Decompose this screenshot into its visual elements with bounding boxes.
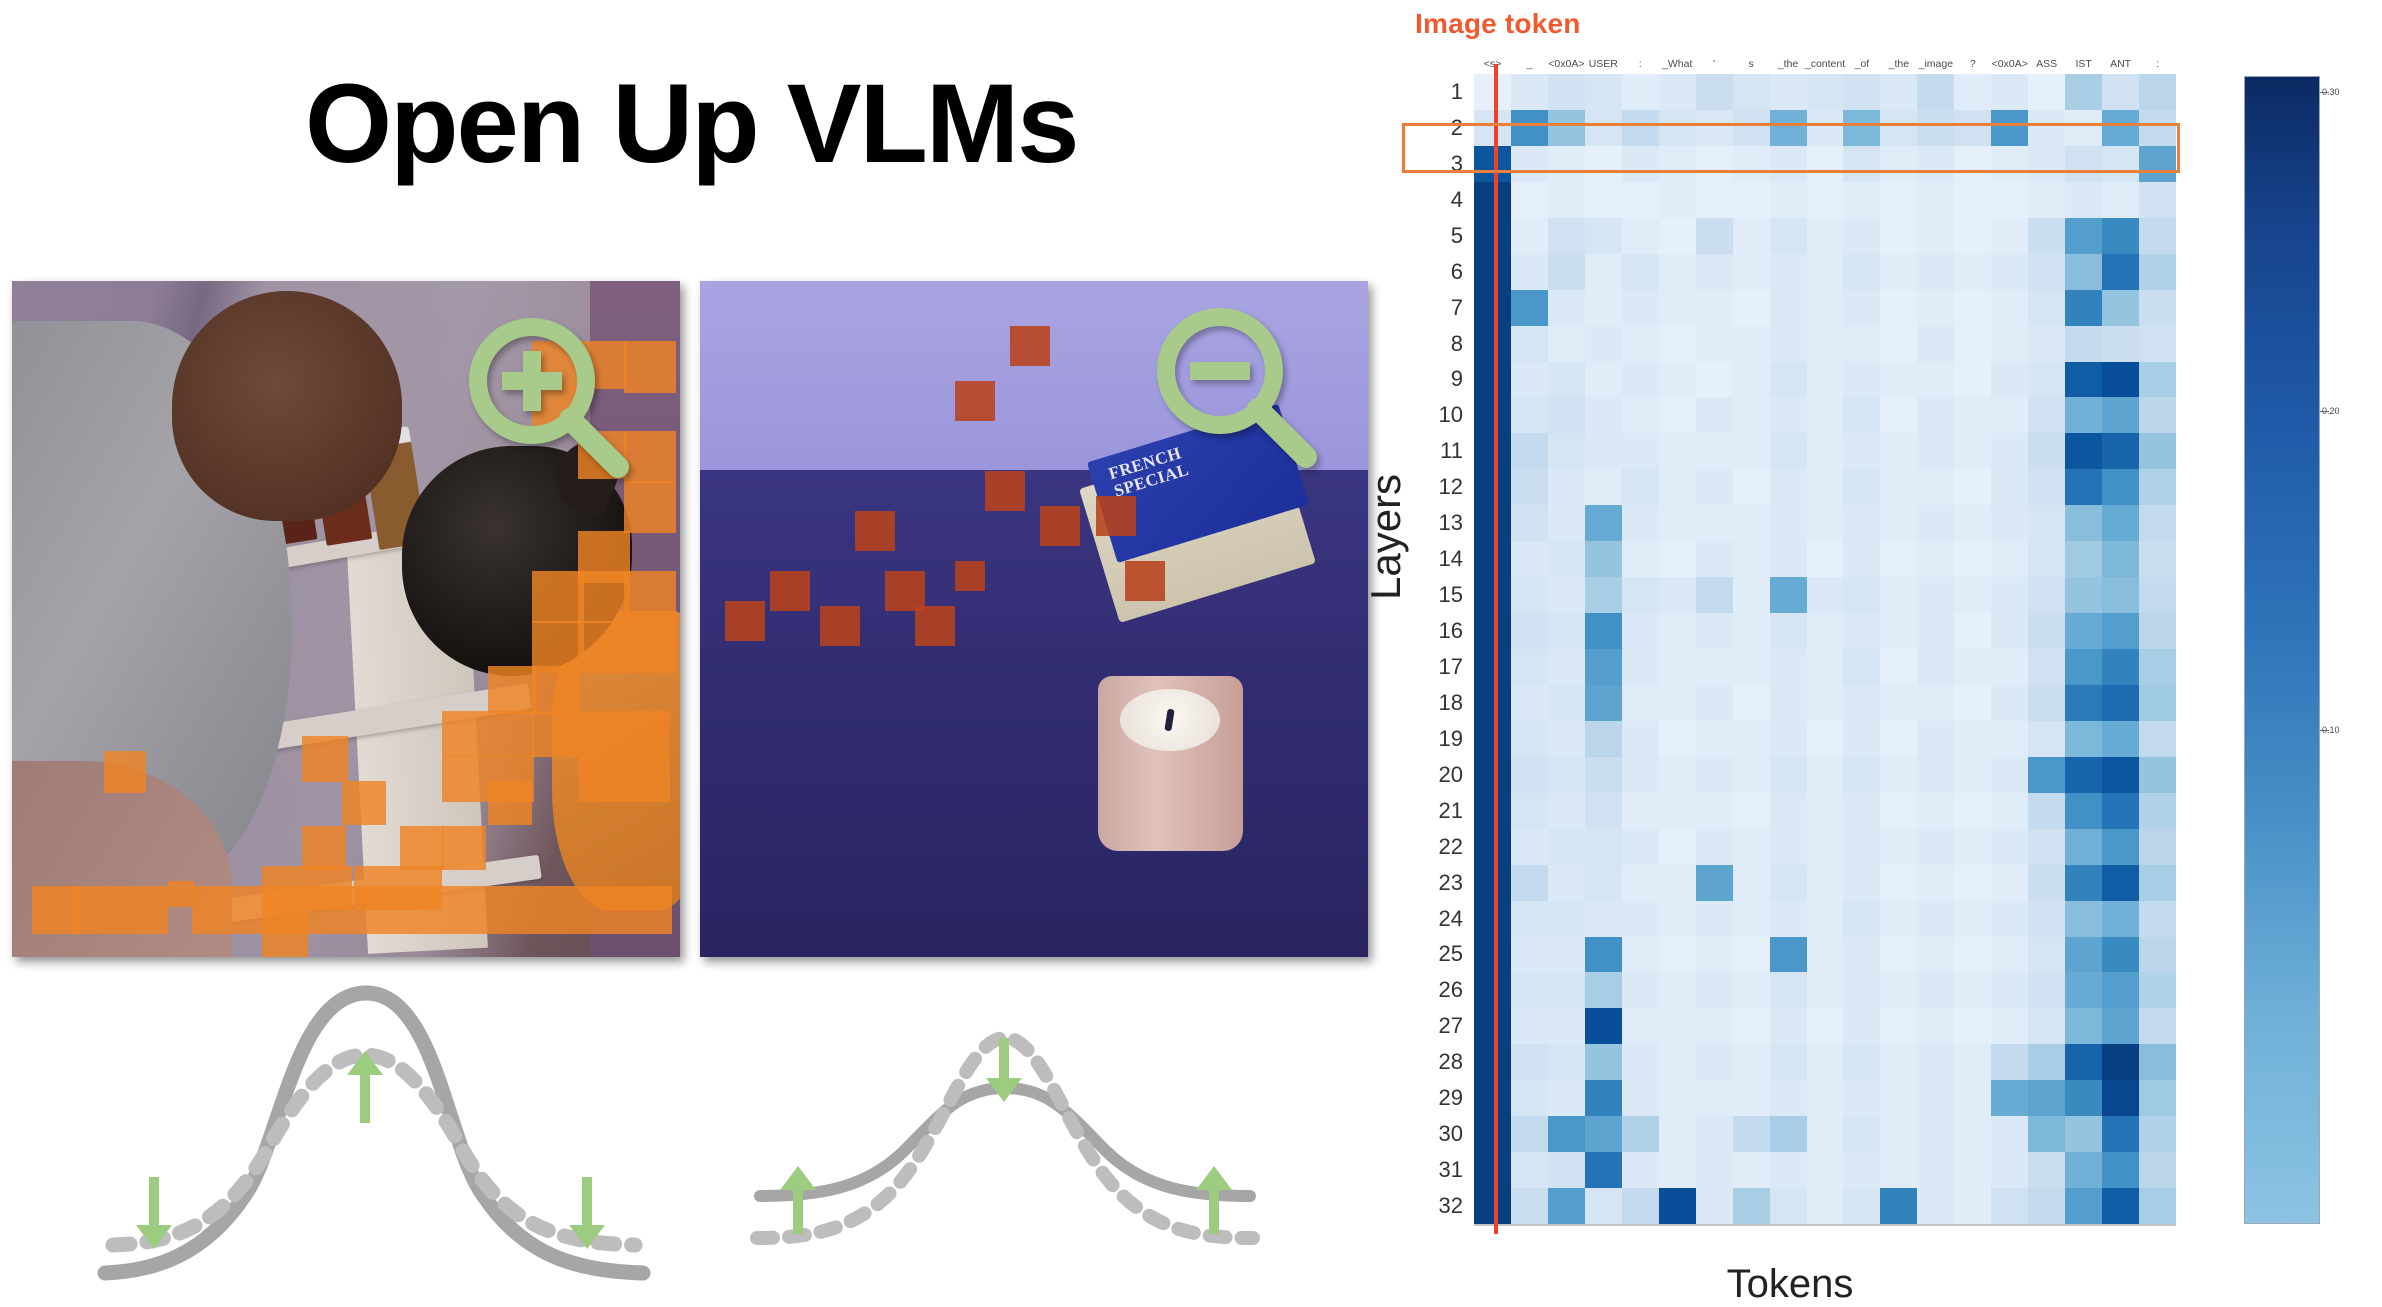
heatmap-cell	[1474, 1080, 1511, 1116]
heatmap-cell	[1880, 721, 1917, 757]
heatmap-cell	[1474, 613, 1511, 649]
heatmap-cell	[1807, 721, 1844, 757]
colorbar-tick-mark	[2320, 92, 2329, 93]
heatmap-cell	[1733, 505, 1770, 541]
heatmap-cell	[1843, 613, 1880, 649]
heatmap-cell	[1622, 829, 1659, 865]
heatmap-cell	[1954, 937, 1991, 973]
layer-tick-label: 28	[1439, 1049, 1463, 1075]
person-head	[172, 291, 402, 521]
layer-tick-label: 12	[1439, 474, 1463, 500]
heatmap-cell	[1696, 469, 1733, 505]
layer-tick-label: 15	[1439, 582, 1463, 608]
heatmap-cell	[2102, 433, 2139, 469]
heatmap-cell	[1770, 1152, 1807, 1188]
layer-tick-label: 8	[1451, 331, 1463, 357]
heatmap-cell	[1733, 901, 1770, 937]
heatmap-cell	[1770, 362, 1807, 398]
heatmap-cell	[1659, 469, 1696, 505]
heatmap-cell	[2028, 613, 2065, 649]
heatmap-cell	[1474, 290, 1511, 326]
heatmap-cell	[1474, 865, 1511, 901]
heatmap-cell	[2065, 326, 2102, 362]
heatmap-cell	[1548, 649, 1585, 685]
heatmap-cell	[1585, 793, 1622, 829]
heatmap-cell	[1917, 218, 1954, 254]
heatmap-cell	[1696, 901, 1733, 937]
heatmap-cell	[2028, 829, 2065, 865]
heatmap-cell	[1733, 757, 1770, 793]
heatmap-cell	[1511, 254, 1548, 290]
heatmap-cell	[1659, 901, 1696, 937]
heatmap-cell	[1807, 505, 1844, 541]
heatmap-cell	[1659, 254, 1696, 290]
heatmap-cell	[1659, 505, 1696, 541]
heatmap-cell	[1659, 685, 1696, 721]
heatmap-cell	[1770, 721, 1807, 757]
heatmap-cell	[2065, 1116, 2102, 1152]
heatmap-cell	[1696, 649, 1733, 685]
heatmap-cell	[2102, 649, 2139, 685]
heatmap-cell	[1511, 326, 1548, 362]
heatmap-cell	[1843, 1080, 1880, 1116]
heatmap-cell	[2028, 218, 2065, 254]
heatmap-cell	[1585, 865, 1622, 901]
heatmap-cell	[1991, 937, 2028, 973]
layer-tick-label: 5	[1451, 223, 1463, 249]
heatmap-cell	[1807, 865, 1844, 901]
heatmap-cell	[2102, 685, 2139, 721]
heatmap-cell	[1843, 1188, 1880, 1224]
heatmap-cell	[1548, 541, 1585, 577]
heatmap-cell	[2102, 793, 2139, 829]
heatmap-cell	[1585, 469, 1622, 505]
heatmap-cell	[2065, 362, 2102, 398]
heatmap-cell	[2065, 793, 2102, 829]
heatmap-cell	[1991, 613, 2028, 649]
heatmap-cell	[1954, 1080, 1991, 1116]
heatmap-cell	[1622, 290, 1659, 326]
heatmap-cell	[2102, 541, 2139, 577]
heatmap-cell	[1917, 1080, 1954, 1116]
heatmap-cell	[1696, 793, 1733, 829]
heatmap-cell	[1917, 433, 1954, 469]
heatmap-cell	[1585, 326, 1622, 362]
heatmap-cell	[2028, 1008, 2065, 1044]
heatmap-cell	[1807, 397, 1844, 433]
token-label: _image	[1919, 58, 1953, 70]
heatmap-cell	[1991, 721, 2028, 757]
heatmap-cell	[1991, 290, 2028, 326]
heatmap-cell	[1880, 182, 1917, 218]
heatmap-cell	[1659, 649, 1696, 685]
heatmap-cell	[1991, 865, 2028, 901]
heatmap-cell	[1991, 218, 2028, 254]
layer-tick-label: 17	[1439, 654, 1463, 680]
heatmap-cell	[1622, 937, 1659, 973]
heatmap-cell	[1548, 577, 1585, 613]
heatmap-cell	[1917, 685, 1954, 721]
heatmap-cell	[1917, 721, 1954, 757]
heatmap-cell	[1696, 829, 1733, 865]
heatmap-cell	[1880, 541, 1917, 577]
heatmap-cell	[1696, 1188, 1733, 1224]
heatmap-cell	[1696, 1116, 1733, 1152]
heatmap-cell	[1991, 577, 2028, 613]
layer-tick-label: 4	[1451, 187, 1463, 213]
heatmap-cell	[1770, 685, 1807, 721]
heatmap-cell	[1585, 757, 1622, 793]
heatmap-cell	[1585, 290, 1622, 326]
heatmap-cell	[1733, 865, 1770, 901]
heatmap-cell	[1954, 972, 1991, 1008]
layer-tick-label: 30	[1439, 1121, 1463, 1147]
heatmap-cell	[1585, 577, 1622, 613]
heatmap-cell	[2028, 685, 2065, 721]
heatmap-cell	[2139, 326, 2176, 362]
heatmap-cell	[1622, 577, 1659, 613]
heatmap-cell	[1585, 433, 1622, 469]
heatmap-cell	[1585, 1116, 1622, 1152]
heatmap-cell	[1622, 901, 1659, 937]
heatmap-cell	[1880, 1008, 1917, 1044]
heatmap-cell	[2065, 397, 2102, 433]
layer-tick-label: 21	[1439, 798, 1463, 824]
heatmap-cell	[1548, 433, 1585, 469]
heatmap-cell	[1733, 74, 1770, 110]
page-title: Open Up VLMs	[305, 68, 1077, 180]
heatmap-cell	[1548, 757, 1585, 793]
heatmap-cell	[1880, 1080, 1917, 1116]
layer-tick-label: 11	[1440, 438, 1463, 464]
heatmap-cell	[1511, 972, 1548, 1008]
heatmap-cell	[1770, 649, 1807, 685]
heatmap-cell	[1696, 362, 1733, 398]
heatmap-cell	[1843, 865, 1880, 901]
heatmap-cell	[2139, 1008, 2176, 1044]
heatmap-cell	[1843, 74, 1880, 110]
heatmap-cell	[2102, 829, 2139, 865]
heatmap-cell	[1622, 74, 1659, 110]
heatmap-cell	[1807, 1044, 1844, 1080]
heatmap-cell	[1807, 254, 1844, 290]
heatmap-cell	[1880, 254, 1917, 290]
heatmap-cell	[1954, 1008, 1991, 1044]
heatmap-cell	[2102, 972, 2139, 1008]
heatmap-cell	[1659, 1044, 1696, 1080]
heatmap-cell	[2028, 469, 2065, 505]
token-label: <0x0A>	[1992, 58, 2028, 70]
heatmap-cell	[1622, 1080, 1659, 1116]
heatmap-cell	[1733, 433, 1770, 469]
heatmap-cell	[1474, 721, 1511, 757]
heatmap-cell	[2028, 865, 2065, 901]
heatmap-cell	[1733, 469, 1770, 505]
heatmap-cell	[2028, 433, 2065, 469]
heatmap-cell	[2028, 290, 2065, 326]
heatmap-cell	[1585, 541, 1622, 577]
heatmap-cell	[1880, 649, 1917, 685]
heatmap-cell	[1511, 182, 1548, 218]
heatmap-cell	[2102, 901, 2139, 937]
heatmap-cell	[2065, 972, 2102, 1008]
heatmap-cell	[1474, 74, 1511, 110]
heatmap-cell	[1474, 1116, 1511, 1152]
heatmap-cell	[1696, 74, 1733, 110]
heatmap-cell	[1696, 326, 1733, 362]
heatmap-cell	[1548, 1008, 1585, 1044]
heatmap-cell	[1474, 397, 1511, 433]
heatmap-cell	[2065, 865, 2102, 901]
heatmap-cell	[1733, 577, 1770, 613]
heatmap-cell	[2139, 901, 2176, 937]
heatmap-cell	[1991, 1008, 2028, 1044]
heatmap-cell	[1659, 1188, 1696, 1224]
heatmap-cell	[1511, 469, 1548, 505]
heatmap-cell	[1474, 649, 1511, 685]
heatmap-cell	[1511, 1188, 1548, 1224]
heatmap-cell	[2139, 1044, 2176, 1080]
heatmap-cell	[1474, 505, 1511, 541]
heatmap-cell	[1733, 397, 1770, 433]
heatmap-cell	[1991, 1044, 2028, 1080]
heatmap-cell	[2102, 362, 2139, 398]
token-label: s	[1748, 58, 1753, 70]
heatmap-cell	[1696, 1008, 1733, 1044]
heatmap-cell	[1917, 757, 1954, 793]
heatmap-cell	[1880, 397, 1917, 433]
heatmap-cell	[1880, 469, 1917, 505]
heatmap-cell	[1622, 326, 1659, 362]
heatmap-cell	[1511, 218, 1548, 254]
heatmap-cell	[1622, 1152, 1659, 1188]
heatmap-cell	[1622, 721, 1659, 757]
heatmap-cell	[1511, 577, 1548, 613]
layer-tick-label: 25	[1439, 941, 1463, 967]
heatmap-cell	[1917, 613, 1954, 649]
heatmap-cell	[1917, 865, 1954, 901]
heatmap-cell	[2139, 685, 2176, 721]
heatmap-cell	[1880, 326, 1917, 362]
heatmap-cell	[1733, 362, 1770, 398]
heatmap-cell	[1696, 937, 1733, 973]
heatmap-cell	[1474, 937, 1511, 973]
heatmap-cell	[1807, 829, 1844, 865]
heatmap-cell	[1622, 972, 1659, 1008]
heatmap-cell	[1843, 182, 1880, 218]
heatmap-cell	[1548, 972, 1585, 1008]
heatmap-cell	[1807, 1188, 1844, 1224]
heatmap-cell	[1917, 397, 1954, 433]
heatmap-cell	[2139, 793, 2176, 829]
heatmap-cell	[1843, 362, 1880, 398]
image-token-label: Image token	[1415, 8, 1581, 40]
heatmap-cell	[1622, 757, 1659, 793]
heatmap-cell	[2102, 1044, 2139, 1080]
heatmap-cell	[1843, 290, 1880, 326]
heatmap-cell	[1511, 865, 1548, 901]
heatmap-cell	[1733, 793, 1770, 829]
heatmap-cell	[1991, 901, 2028, 937]
heatmap-cell	[1954, 218, 1991, 254]
heatmap-cell	[1659, 937, 1696, 973]
heatmap-cell	[1807, 1116, 1844, 1152]
token-label: _the	[1889, 58, 1909, 70]
heatmap-cell	[1807, 74, 1844, 110]
heatmap-cell	[1954, 433, 1991, 469]
heatmap-cell	[1770, 326, 1807, 362]
layer-2-highlight-box	[1402, 123, 2180, 173]
heatmap-cell	[2139, 218, 2176, 254]
heatmap-cell	[1880, 793, 1917, 829]
heatmap-cell	[1880, 901, 1917, 937]
heatmap-cell	[1548, 254, 1585, 290]
heatmap-cell	[1474, 1152, 1511, 1188]
heatmap-cell	[1474, 685, 1511, 721]
heatmap-cell	[1548, 182, 1585, 218]
heatmap-cell	[1991, 541, 2028, 577]
heatmap-cell	[2102, 74, 2139, 110]
layer-tick-labels: 1234567891011121314151617181920212223242…	[1399, 74, 1469, 1224]
layer-tick-label: 32	[1439, 1193, 1463, 1219]
heatmap-cell	[1807, 1152, 1844, 1188]
heatmap-cell	[2065, 901, 2102, 937]
heatmap-cell	[1917, 1152, 1954, 1188]
layer-tick-label: 16	[1439, 618, 1463, 644]
attention-flattening-diagram	[745, 1000, 1265, 1290]
heatmap-cell	[1843, 397, 1880, 433]
heatmap-cell	[1991, 1188, 2028, 1224]
heatmap-cell	[2065, 1188, 2102, 1224]
heatmap-cell	[1511, 613, 1548, 649]
heatmap-cell	[1585, 972, 1622, 1008]
heatmap-cell	[1548, 829, 1585, 865]
heatmap-cell	[1770, 1188, 1807, 1224]
heatmap-cell	[1659, 218, 1696, 254]
heatmap-cell	[1807, 613, 1844, 649]
heatmap-cell	[1954, 685, 1991, 721]
heatmap-cell	[1511, 1044, 1548, 1080]
heatmap-cell	[1733, 972, 1770, 1008]
heatmap-cell	[1696, 757, 1733, 793]
heatmap-cell	[1548, 469, 1585, 505]
heatmap-cell	[1954, 865, 1991, 901]
heatmap-cell	[1917, 649, 1954, 685]
heatmap-cell	[1843, 1152, 1880, 1188]
heatmap-cell	[1991, 1152, 2028, 1188]
heatmap-cell	[2102, 1152, 2139, 1188]
heatmap-cell	[1843, 685, 1880, 721]
heatmap-cell	[1917, 793, 1954, 829]
heatmap-cell	[1548, 1152, 1585, 1188]
heatmap-cell	[1733, 326, 1770, 362]
layer-tick-label: 19	[1439, 726, 1463, 752]
heatmap-cell	[2102, 397, 2139, 433]
heatmap-cell	[2028, 757, 2065, 793]
heatmap-cell	[1622, 865, 1659, 901]
heatmap-cell	[1843, 721, 1880, 757]
token-label: <s>	[1484, 58, 1502, 70]
heatmap-cell	[1807, 1080, 1844, 1116]
heatmap-cell	[2028, 577, 2065, 613]
heatmap-cell	[2065, 685, 2102, 721]
heatmap-cell	[1880, 1188, 1917, 1224]
heatmap-cell	[1585, 685, 1622, 721]
heatmap-cell	[1659, 1080, 1696, 1116]
heatmap-cell	[2102, 865, 2139, 901]
layer-tick-label: 13	[1439, 510, 1463, 536]
heatmap-cell	[2139, 469, 2176, 505]
heatmap-cell	[1770, 397, 1807, 433]
heatmap-cell	[2139, 865, 2176, 901]
heatmap-cell	[1954, 1044, 1991, 1080]
layer-tick-label: 31	[1439, 1157, 1463, 1183]
heatmap-cell	[1622, 613, 1659, 649]
heatmap-cell	[1733, 1116, 1770, 1152]
heatmap-cell	[2139, 1080, 2176, 1116]
heatmap-cell	[2139, 505, 2176, 541]
heatmap-cell	[1733, 613, 1770, 649]
layer-tick-label: 18	[1439, 690, 1463, 716]
heatmap-cell	[1770, 541, 1807, 577]
heatmap-cell	[1696, 1152, 1733, 1188]
heatmap-cell	[1474, 218, 1511, 254]
heatmap-cell	[1843, 505, 1880, 541]
magnifier-plus-icon	[452, 301, 652, 501]
heatmap-cell	[1474, 541, 1511, 577]
heatmap-cell	[2102, 577, 2139, 613]
heatmap-cell	[1659, 613, 1696, 649]
heatmap-cell	[1622, 649, 1659, 685]
attention-sharpening-diagram	[95, 955, 655, 1285]
heatmap-cell	[2028, 1080, 2065, 1116]
heatmap-cell	[1917, 829, 1954, 865]
heatmap-cell	[2065, 541, 2102, 577]
heatmap-cell	[1843, 254, 1880, 290]
heatmap-cell	[2102, 290, 2139, 326]
heatmap-cell	[1511, 937, 1548, 973]
layer-tick-label: 1	[1451, 79, 1463, 105]
heatmap-cell	[1511, 74, 1548, 110]
heatmap-cell	[2139, 182, 2176, 218]
colorbar	[2244, 76, 2320, 1224]
heatmap-cell	[1880, 865, 1917, 901]
heatmap-cell	[1770, 74, 1807, 110]
heatmap-cell	[2139, 74, 2176, 110]
heatmap-cell	[2139, 254, 2176, 290]
heatmap-cell	[2102, 218, 2139, 254]
heatmap-cell	[2028, 74, 2065, 110]
heatmap-cell	[1807, 901, 1844, 937]
heatmap-cell	[1474, 362, 1511, 398]
heatmap-cell	[1954, 74, 1991, 110]
heatmap-cell	[2065, 1080, 2102, 1116]
heatmap-cell	[1548, 1080, 1585, 1116]
token-label: _of	[1855, 58, 1870, 70]
heatmap-cell	[1474, 972, 1511, 1008]
heatmap-cell	[1880, 937, 1917, 973]
heatmap-cell	[1917, 972, 1954, 1008]
heatmap-cell	[2139, 1152, 2176, 1188]
heatmap-cell	[1622, 1116, 1659, 1152]
heatmap-cell	[1954, 326, 1991, 362]
colorbar-tick-mark	[2320, 411, 2329, 412]
heatmap-cell	[1843, 793, 1880, 829]
heatmap-cell	[1770, 937, 1807, 973]
heatmap-cell	[2065, 1044, 2102, 1080]
heatmap-cell	[1954, 757, 1991, 793]
heatmap-cell	[2028, 1188, 2065, 1224]
